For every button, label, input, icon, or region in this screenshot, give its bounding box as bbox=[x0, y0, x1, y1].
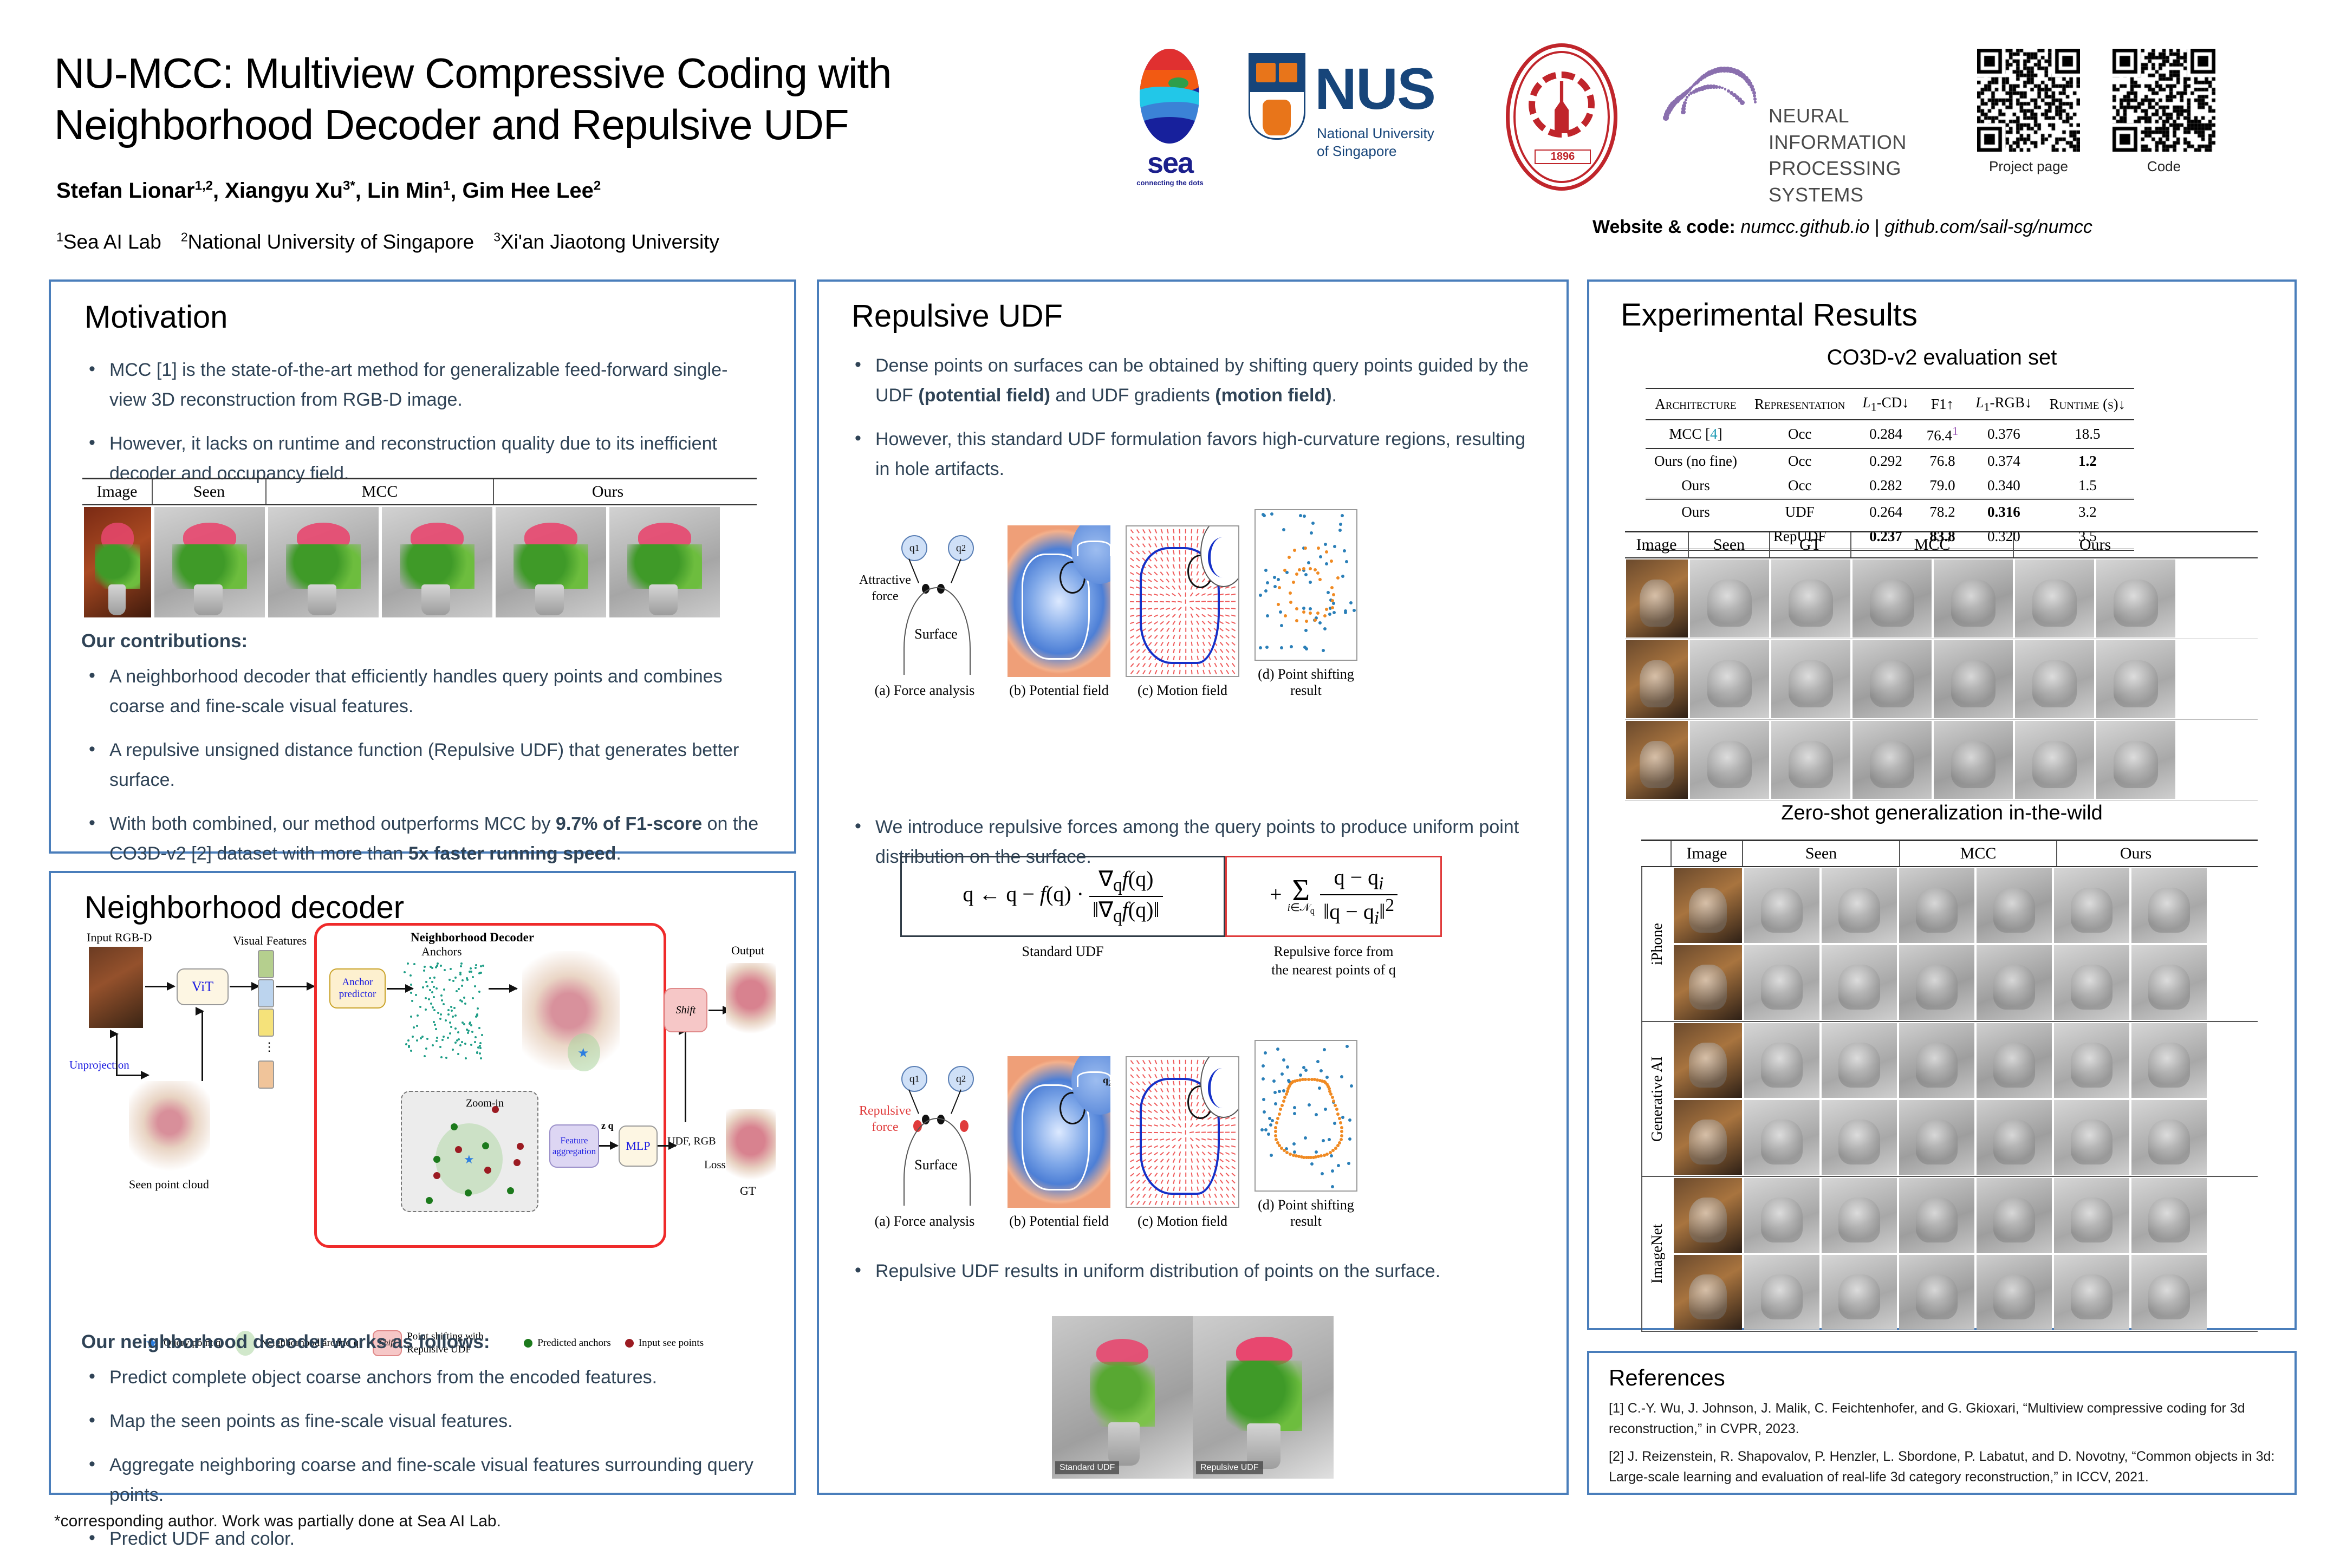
figure-caption: (a) Force analysis bbox=[857, 682, 992, 699]
author-list: Stefan Lionar1,2, Xiangyu Xu3*, Lin Min1… bbox=[56, 179, 601, 203]
udf-heading: Repulsive UDF bbox=[851, 298, 1063, 334]
motion-field-image bbox=[1126, 525, 1239, 677]
bullet-item: Predict complete object coarse anchors f… bbox=[81, 1363, 764, 1393]
motivation-col-header: MCC bbox=[266, 479, 494, 504]
anchor-predictor-line-1: Anchor bbox=[342, 977, 373, 988]
cell-architecture: Ours (no fine) bbox=[1646, 448, 1746, 473]
nus-sub-1: National University bbox=[1317, 125, 1434, 142]
neurips-logo: NEURAL INFORMATION PROCESSING SYSTEMS bbox=[1657, 54, 1945, 184]
cell-mcc-view1 bbox=[1898, 1254, 1975, 1331]
cell-mcc-view1 bbox=[266, 505, 380, 619]
motivation-col-header: Ours bbox=[494, 479, 721, 504]
table-row: MCC [4] Occ 0.284 76.41 0.376 18.5 bbox=[1646, 420, 2134, 448]
qr-code-repo[interactable] bbox=[2112, 49, 2215, 152]
udf-formula-block: q ← q − f(q) · ∇qf(q)‖∇qf(q)‖ Standard U… bbox=[900, 856, 1491, 979]
zeroshot-group: ImageNet bbox=[1641, 1177, 2258, 1332]
udf-fig-motion-field: (c) Motion field bbox=[1126, 525, 1239, 699]
references-block: References [1] C.-Y. Wu, J. Johnson, J. … bbox=[1609, 1365, 2275, 1495]
standard-udf-formula-box: q ← q − f(q) · ∇qf(q)‖∇qf(q)‖ bbox=[900, 856, 1225, 937]
sea-wordmark: sea bbox=[1116, 146, 1224, 180]
query-point-q2: q2 bbox=[948, 535, 974, 561]
diagram-label-seen-point-cloud: Seen point cloud bbox=[129, 1177, 209, 1192]
zeroshot-title: Zero-shot generalization in-the-wild bbox=[1589, 802, 2294, 825]
nus-sub-2: of Singapore bbox=[1317, 142, 1434, 160]
bullet-item: Aggregate neighboring coarse and fine-sc… bbox=[81, 1450, 764, 1510]
cell-f1: 76.8 bbox=[1918, 448, 1967, 473]
poster-root: NU-MCC: Multiview Compressive Coding wit… bbox=[0, 0, 2340, 1560]
results-row bbox=[1673, 1022, 2258, 1099]
cell-seen-view1 bbox=[1743, 1254, 1821, 1331]
plant-repulsive-udf-image: Repulsive UDF bbox=[1193, 1316, 1334, 1479]
figure-caption: (b) Potential field bbox=[1007, 682, 1110, 699]
grid-col-header: Ours bbox=[2014, 532, 2176, 557]
diagram-output-image bbox=[726, 963, 776, 1033]
motion-field-image bbox=[1126, 1056, 1239, 1208]
cell-mcc-view2 bbox=[1933, 639, 2014, 719]
figure-caption: (b) Potential field bbox=[1007, 1213, 1110, 1229]
panel-motivation: Motivation MCC [1] is the state-of-the-a… bbox=[49, 279, 796, 854]
panel-neighborhood-decoder: Neighborhood decoder Input RGB-D Unproje… bbox=[49, 871, 796, 1495]
cell-mcc-view1 bbox=[1898, 1022, 1975, 1099]
cell-seen-view2 bbox=[1821, 867, 1898, 944]
diagram-mlp-box: MLP bbox=[619, 1125, 658, 1167]
bullet-item: MCC [1] is the state-of-the-art method f… bbox=[81, 355, 758, 415]
diagram-label-zq: z q bbox=[601, 1120, 614, 1131]
logo-strip: sea connecting the dots NUS National Uni… bbox=[1116, 43, 2307, 200]
panel-references: References [1] C.-Y. Wu, J. Johnson, J. … bbox=[1587, 1351, 2297, 1495]
grid-corner-spacer bbox=[1641, 841, 1672, 866]
nus-logo: NUS National University of Singapore bbox=[1249, 53, 1465, 188]
cell-ours-view2 bbox=[2130, 1254, 2208, 1331]
surface-label: Surface bbox=[907, 626, 965, 642]
diagram-label-unprojection: Unprojection bbox=[69, 1058, 129, 1072]
nus-wordmark: NUS bbox=[1315, 60, 1435, 118]
table-col-header: L1-RGB↓ bbox=[1967, 388, 2040, 420]
cell-ours-view1 bbox=[2053, 867, 2130, 944]
repulsive-force-formula-box: + Σi∈𝒩q q − qi‖q − qi‖2 bbox=[1225, 856, 1442, 937]
cell-architecture: Ours bbox=[1646, 473, 1746, 499]
diagram-anchor-cloud bbox=[403, 962, 484, 1059]
cell-seen-view1 bbox=[1743, 944, 1821, 1021]
bullet-item: Map the seen points as fine-scale visual… bbox=[81, 1407, 764, 1436]
cell-ours-view2 bbox=[2095, 639, 2176, 719]
zeroshot-group: Generative AI bbox=[1641, 1022, 2258, 1177]
cell-representation: Occ bbox=[1746, 473, 1854, 499]
panel-repulsive-udf: Repulsive UDF Dense points on surfaces c… bbox=[817, 279, 1569, 1495]
grid-col-header: Image bbox=[1672, 841, 1743, 866]
sea-oval-icon bbox=[1140, 49, 1199, 144]
author-name: Xiangyu Xu3* bbox=[225, 179, 355, 203]
affiliation-item: 3Xi'an Jiaotong University bbox=[493, 231, 719, 253]
diagram-label-udf-rgb: UDF, RGB bbox=[667, 1135, 716, 1148]
cell-seen-view2 bbox=[1821, 1099, 1898, 1176]
motivation-comparison-figure: ImageSeenMCCOurs bbox=[82, 478, 757, 619]
experiments-heading: Experimental Results bbox=[1621, 297, 1917, 333]
query-point-q1: q1 bbox=[901, 1066, 927, 1092]
feature-agg-line-2: aggregation bbox=[552, 1146, 596, 1157]
cell-mcc-view1 bbox=[1898, 1177, 1975, 1254]
plant-standard-udf-image: Standard UDF bbox=[1052, 1316, 1193, 1479]
cell-seen-view1 bbox=[1743, 1177, 1821, 1254]
title-line-2: Neighborhood Decoder and Repulsive UDF bbox=[54, 99, 1127, 151]
reference-item: [1] C.-Y. Wu, J. Johnson, J. Malik, C. F… bbox=[1609, 1398, 2275, 1439]
cell-seen-view1 bbox=[1743, 867, 1821, 944]
zeroshot-grid-rows: iPhone bbox=[1641, 867, 2258, 1332]
query-point-q1: q1 bbox=[901, 535, 927, 561]
cell-seen bbox=[1689, 720, 1770, 800]
affiliation-item: 1Sea AI Lab bbox=[56, 231, 161, 253]
title-line-1: NU-MCC: Multiview Compressive Coding wit… bbox=[54, 48, 1127, 99]
diagram-label-gt: GT bbox=[740, 1184, 756, 1198]
repulsive-caption-line-1: Repulsive force from bbox=[1225, 942, 1442, 961]
cell-mcc-view2 bbox=[1975, 1022, 2053, 1099]
references-heading: References bbox=[1609, 1365, 2275, 1391]
udf-fig-motion-field: (c) Motion field bbox=[1126, 1056, 1239, 1229]
table-row: Ours (no fine) Occ 0.292 76.8 0.374 1.2 bbox=[1646, 448, 2134, 473]
results-row bbox=[1673, 867, 2258, 944]
diagram-label-visual-features: Visual Features bbox=[233, 934, 307, 948]
results-table-header-row: ArchitectureRepresentationL1-CD↓F1↑L1-RG… bbox=[1646, 388, 2134, 420]
cell-l1-cd: 0.264 bbox=[1854, 499, 1917, 524]
code-url[interactable]: github.com/sail-sg/numcc bbox=[1884, 217, 2092, 237]
cell-ours-view2 bbox=[2130, 1099, 2208, 1176]
grid-col-header: Seen bbox=[1689, 532, 1770, 557]
figure-caption: (d) Point shifting result bbox=[1254, 1197, 1357, 1229]
table-col-header: L1-CD↓ bbox=[1854, 388, 1917, 420]
zeroshot-group: iPhone bbox=[1641, 867, 2258, 1022]
cell-l1-rgb: 0.340 bbox=[1967, 473, 2040, 499]
cell-seen-view1 bbox=[1743, 1022, 1821, 1099]
potential-field-image bbox=[1007, 525, 1110, 677]
author-name: Stefan Lionar1,2 bbox=[56, 179, 213, 203]
surface-illustration: Repulsive force ← → q1 q2 bbox=[857, 1056, 992, 1208]
qr-code-repo-label: Code bbox=[2112, 158, 2215, 175]
cell-image bbox=[1673, 1099, 1743, 1176]
author-name: Gim Hee Lee2 bbox=[463, 179, 601, 203]
diagram-anchor-predictor-box: Anchor predictor bbox=[329, 968, 386, 1009]
website-url[interactable]: numcc.github.io bbox=[1740, 217, 1869, 237]
website-label: Website & code: bbox=[1592, 217, 1735, 237]
cell-gt bbox=[1770, 558, 1851, 639]
standard-udf-formula: q ← q − f(q) · ∇qf(q)‖∇qf(q)‖ bbox=[963, 866, 1162, 927]
udf-formula-boxes: q ← q − f(q) · ∇qf(q)‖∇qf(q)‖ Standard U… bbox=[900, 856, 1491, 979]
udf-top-bullets: Dense points on surfaces can be obtained… bbox=[847, 351, 1535, 498]
potential-field-image: q2 bbox=[1007, 1056, 1110, 1208]
motivation-col-header: Seen bbox=[153, 479, 266, 504]
repulsive-caption-line-2: the nearest points of q bbox=[1225, 961, 1442, 979]
cell-l1-rgb: 0.316 bbox=[1967, 499, 2040, 524]
cell-mcc-view2 bbox=[1975, 944, 2053, 1021]
diagram-gt-image bbox=[726, 1109, 776, 1180]
cell-seen-view2 bbox=[1821, 1254, 1898, 1331]
figure-caption: (d) Point shifting result bbox=[1254, 666, 1357, 699]
cell-representation: UDF bbox=[1746, 499, 1854, 524]
udf-bottom-bullet: Repulsive UDF results in uniform distrib… bbox=[847, 1257, 1535, 1300]
surface-illustration: Attractive force q1 q2 bbox=[857, 525, 992, 677]
cell-architecture: Ours bbox=[1646, 499, 1746, 524]
results-row bbox=[1673, 1099, 2258, 1176]
diagram-label-output: Output bbox=[731, 944, 764, 958]
cell-mcc-view1 bbox=[1898, 1099, 1975, 1176]
cell-image bbox=[1673, 944, 1743, 1021]
contribution-item: A repulsive unsigned distance function (… bbox=[81, 736, 764, 795]
table-col-header: Representation bbox=[1746, 388, 1854, 420]
table-col-header: Runtime (s)↓ bbox=[2040, 388, 2134, 420]
cell-ours-view1 bbox=[2053, 1254, 2130, 1331]
udf-figure-row-repulsive: Repulsive force ← → q1 q2 bbox=[857, 1040, 1357, 1229]
cell-f1: 79.0 bbox=[1918, 473, 1967, 499]
poster-header: NU-MCC: Multiview Compressive Coding wit… bbox=[0, 0, 2340, 260]
cell-ours-view1 bbox=[2053, 1022, 2130, 1099]
cell-ours-view2 bbox=[2095, 558, 2176, 639]
cell-seen-view2 bbox=[1821, 1022, 1898, 1099]
page-title: NU-MCC: Multiview Compressive Coding wit… bbox=[54, 48, 1127, 151]
cell-representation: Occ bbox=[1746, 420, 1854, 448]
neurips-wordmark: NEURAL INFORMATION PROCESSING SYSTEMS bbox=[1769, 103, 1945, 208]
table-row: Ours Occ 0.282 79.0 0.340 1.5 bbox=[1646, 473, 2134, 499]
co3d-grid-rows bbox=[1625, 558, 2258, 801]
author-name: Lin Min1 bbox=[367, 179, 450, 203]
results-row bbox=[1673, 944, 2258, 1021]
bullet-item: Dense points on surfaces can be obtained… bbox=[847, 351, 1535, 411]
results-table: ArchitectureRepresentationL1-CD↓F1↑L1-RG… bbox=[1646, 388, 2134, 552]
udf-fig-point-shifting: (d) Point shifting result bbox=[1254, 1040, 1357, 1229]
cell-ours-view2 bbox=[2130, 944, 2208, 1021]
results-row bbox=[1673, 1177, 2258, 1254]
affiliation-list: 1Sea AI Lab2National University of Singa… bbox=[56, 230, 719, 253]
results-table-title: CO3D-v2 evaluation set bbox=[1589, 346, 2294, 370]
cell-image bbox=[1673, 1177, 1743, 1254]
cell-seen bbox=[1689, 639, 1770, 719]
diagram-input-image bbox=[89, 947, 143, 1028]
udf-fig-potential-field: (b) Potential field bbox=[1007, 525, 1110, 699]
grid-col-header: Seen bbox=[1743, 841, 1900, 866]
xjtu-logo: 1896 bbox=[1495, 43, 1630, 195]
cell-seen-view2 bbox=[1821, 1177, 1898, 1254]
grid-col-header: MCC bbox=[1900, 841, 2057, 866]
zeroshot-row-label: Generative AI bbox=[1641, 1022, 1673, 1176]
cell-l1-cd: 0.292 bbox=[1854, 448, 1917, 473]
cell-ours-view2 bbox=[2095, 720, 2176, 800]
cell-seen bbox=[153, 505, 266, 619]
results-row bbox=[1625, 720, 2258, 801]
standard-udf-caption: Standard UDF bbox=[900, 942, 1225, 961]
query-point-q2: q2 bbox=[948, 1066, 974, 1092]
grid-col-header: MCC bbox=[1851, 532, 2014, 557]
diagram-shift-box: Shift bbox=[664, 988, 707, 1032]
contribution-item: A neighborhood decoder that efficiently … bbox=[81, 662, 764, 721]
neurips-line-1: NEURAL INFORMATION bbox=[1769, 103, 1945, 155]
cell-mcc-view2 bbox=[1975, 867, 2053, 944]
diagram-vit-box: ViT bbox=[177, 968, 229, 1005]
figure-caption: (c) Motion field bbox=[1126, 682, 1239, 699]
diagram-label-decoder-title: Neighborhood Decoder bbox=[411, 931, 534, 945]
cell-mcc-view2 bbox=[1975, 1099, 2053, 1176]
cell-l1-cd: 0.284 bbox=[1854, 420, 1917, 448]
cell-mcc-view1 bbox=[1898, 867, 1975, 944]
grid-col-header: GT bbox=[1770, 532, 1851, 557]
point-shifting-image bbox=[1254, 1040, 1357, 1192]
cell-mcc-view1 bbox=[1851, 720, 1933, 800]
decoder-architecture-diagram: Input RGB-D Unprojection Seen point clou… bbox=[64, 919, 779, 1276]
contribution-item: With both combined, our method outperfor… bbox=[81, 809, 764, 869]
udf-figure-row-attractive: Attractive force q1 q2 bbox=[857, 509, 1357, 699]
neurips-line-2: PROCESSING SYSTEMS bbox=[1769, 155, 1945, 208]
cell-gt bbox=[1770, 720, 1851, 800]
sea-tagline: connecting the dots bbox=[1116, 179, 1224, 187]
cell-mcc-view2 bbox=[1933, 558, 2014, 639]
cell-seen-view1 bbox=[1743, 1099, 1821, 1176]
grid-col-header: Image bbox=[1625, 532, 1689, 557]
cell-ours-view2 bbox=[2130, 1022, 2208, 1099]
cell-ours-view1 bbox=[2053, 944, 2130, 1021]
motivation-figure-headers: ImageSeenMCCOurs bbox=[82, 478, 757, 505]
motivation-figure-row bbox=[82, 505, 757, 619]
plant-repulsive-udf-caption: Repulsive UDF bbox=[1196, 1461, 1263, 1474]
zeroshot-row-label: ImageNet bbox=[1641, 1177, 1673, 1331]
cell-input-image bbox=[82, 505, 153, 619]
grid-col-header: Ours bbox=[2057, 841, 2214, 866]
bullet-item: Repulsive UDF results in uniform distrib… bbox=[847, 1257, 1535, 1286]
cell-mcc-view1 bbox=[1898, 944, 1975, 1021]
plant-standard-udf-caption: Standard UDF bbox=[1055, 1461, 1119, 1474]
table-col-header: F1↑ bbox=[1918, 388, 1967, 420]
table-row: Ours UDF 0.264 78.2 0.316 3.2 bbox=[1646, 499, 2134, 524]
website-separator: | bbox=[1875, 217, 1880, 237]
anchor-predictor-line-2: predictor bbox=[339, 988, 376, 1000]
zeroshot-grid-headers: ImageSeenMCCOurs bbox=[1641, 840, 2258, 867]
cell-ours-view1 bbox=[2014, 639, 2095, 719]
xjtu-year: 1896 bbox=[1535, 149, 1591, 164]
co3d-grid-headers: ImageSeenGTMCCOurs bbox=[1625, 531, 2258, 558]
udf-plant-comparison: Standard UDF Repulsive UDF bbox=[1052, 1316, 1334, 1479]
zeroshot-row-label: iPhone bbox=[1641, 867, 1673, 1021]
cell-ours-view1 bbox=[2053, 1099, 2130, 1176]
results-row bbox=[1673, 1254, 2258, 1331]
figure-caption: (c) Motion field bbox=[1126, 1213, 1239, 1229]
diagram-feature-aggregation-box: Feature aggregation bbox=[549, 1124, 599, 1168]
cell-f1: 76.41 bbox=[1918, 420, 1967, 448]
cell-image bbox=[1625, 720, 1689, 800]
contributions-block: Our contributions: A neighborhood decode… bbox=[81, 630, 764, 883]
repulsive-force-caption: Repulsive force from the nearest points … bbox=[1225, 942, 1442, 979]
feature-agg-line-1: Feature bbox=[561, 1135, 588, 1146]
diagram-zoom-dots bbox=[401, 1091, 536, 1210]
motivation-col-header: Image bbox=[82, 479, 153, 504]
cell-runtime: 1.5 bbox=[2040, 473, 2134, 499]
reference-item: [2] J. Reizenstein, R. Shapovalov, P. He… bbox=[1609, 1447, 2275, 1487]
cell-l1-rgb: 0.376 bbox=[1967, 420, 2040, 448]
cell-representation: Occ bbox=[1746, 448, 1854, 473]
cell-image bbox=[1625, 558, 1689, 639]
cell-runtime: 18.5 bbox=[2040, 420, 2134, 448]
cell-ours-view1 bbox=[494, 505, 608, 619]
cell-l1-cd: 0.282 bbox=[1854, 473, 1917, 499]
cell-image bbox=[1673, 867, 1743, 944]
cell-mcc-view2 bbox=[380, 505, 494, 619]
cell-ours-view2 bbox=[608, 505, 721, 619]
cell-ours-view1 bbox=[2053, 1177, 2130, 1254]
contributions-list: A neighborhood decoder that efficiently … bbox=[81, 662, 764, 869]
point-shifting-image bbox=[1254, 509, 1357, 661]
cell-mcc-view2 bbox=[1975, 1254, 2053, 1331]
cell-runtime: 3.2 bbox=[2040, 499, 2134, 524]
cell-f1: 78.2 bbox=[1918, 499, 1967, 524]
udf-fig-force-analysis: Repulsive force ← → q1 q2 bbox=[857, 1056, 992, 1229]
cell-mcc-view1 bbox=[1851, 558, 1933, 639]
diagram-label-input-rgbd: Input RGB-D bbox=[87, 931, 152, 945]
decoder-works-heading: Our neighborhood decoder works as follow… bbox=[81, 1331, 764, 1353]
cell-l1-rgb: 0.374 bbox=[1967, 448, 2040, 473]
decoder-works-block: Our neighborhood decoder works as follow… bbox=[81, 1331, 764, 1568]
cell-gt bbox=[1770, 639, 1851, 719]
cell-image bbox=[1673, 1254, 1743, 1331]
cell-ours-view2 bbox=[2130, 1177, 2208, 1254]
results-row bbox=[1625, 639, 2258, 720]
website-and-code-line: Website & code: numcc.github.io | github… bbox=[1592, 217, 2092, 238]
results-row bbox=[1625, 558, 2258, 639]
figure-caption: (a) Force analysis bbox=[857, 1213, 992, 1229]
diagram-label-anchors: Anchors bbox=[421, 945, 462, 959]
cell-mcc-view1 bbox=[1851, 639, 1933, 719]
footnote: *corresponding author. Work was partiall… bbox=[54, 1512, 501, 1531]
nus-shield-icon bbox=[1249, 53, 1305, 156]
cell-seen-view2 bbox=[1821, 944, 1898, 1021]
panel-experimental-results: Experimental Results CO3D-v2 evaluation … bbox=[1587, 279, 2297, 1330]
table-col-header: Architecture bbox=[1646, 388, 1746, 420]
udf-fig-point-shifting: (d) Point shifting result bbox=[1254, 509, 1357, 699]
sea-ai-lab-logo: sea connecting the dots bbox=[1116, 49, 1224, 190]
affiliation-item: 2National University of Singapore bbox=[181, 231, 474, 253]
motivation-heading: Motivation bbox=[84, 299, 227, 335]
co3d-results-grid: ImageSeenGTMCCOurs bbox=[1625, 531, 2258, 801]
cell-ours-view1 bbox=[2014, 558, 2095, 639]
contributions-heading: Our contributions: bbox=[81, 630, 764, 652]
bullet-item: However, this standard UDF formulation f… bbox=[847, 425, 1535, 484]
repulsive-force-formula: + Σi∈𝒩q q − qi‖q − qi‖2 bbox=[1270, 864, 1397, 928]
cell-ours-view2 bbox=[2130, 867, 2208, 944]
udf-fig-force-analysis: Attractive force q1 q2 bbox=[857, 525, 992, 699]
zeroshot-results-grid: ImageSeenMCCOurs iPhone bbox=[1641, 840, 2258, 1332]
diagram-seen-point-cloud bbox=[129, 1081, 210, 1173]
cell-runtime: 1.2 bbox=[2040, 448, 2134, 473]
cell-ours-view1 bbox=[2014, 720, 2095, 800]
cell-image bbox=[1625, 639, 1689, 719]
cell-mcc-view2 bbox=[1975, 1177, 2053, 1254]
cell-architecture: MCC [4] bbox=[1646, 420, 1746, 448]
surface-label: Surface bbox=[907, 1157, 965, 1173]
results-table-wrapper: ArchitectureRepresentationL1-CD↓F1↑L1-RG… bbox=[1646, 388, 2134, 552]
cell-mcc-view2 bbox=[1933, 720, 2014, 800]
qr-project-page-label: Project page bbox=[1977, 158, 2080, 175]
nus-subtitle: National University of Singapore bbox=[1317, 125, 1434, 160]
diagram-query-point-star: ★ bbox=[577, 1045, 589, 1061]
qr-project-page[interactable] bbox=[1977, 49, 2080, 152]
cell-image bbox=[1673, 1022, 1743, 1099]
references-list: [1] C.-Y. Wu, J. Johnson, J. Malik, C. F… bbox=[1609, 1398, 2275, 1487]
cell-seen bbox=[1689, 558, 1770, 639]
diagram-label-loss: Loss bbox=[704, 1158, 726, 1172]
udf-fig-potential-field: q2 (b) Potential field bbox=[1007, 1056, 1110, 1229]
